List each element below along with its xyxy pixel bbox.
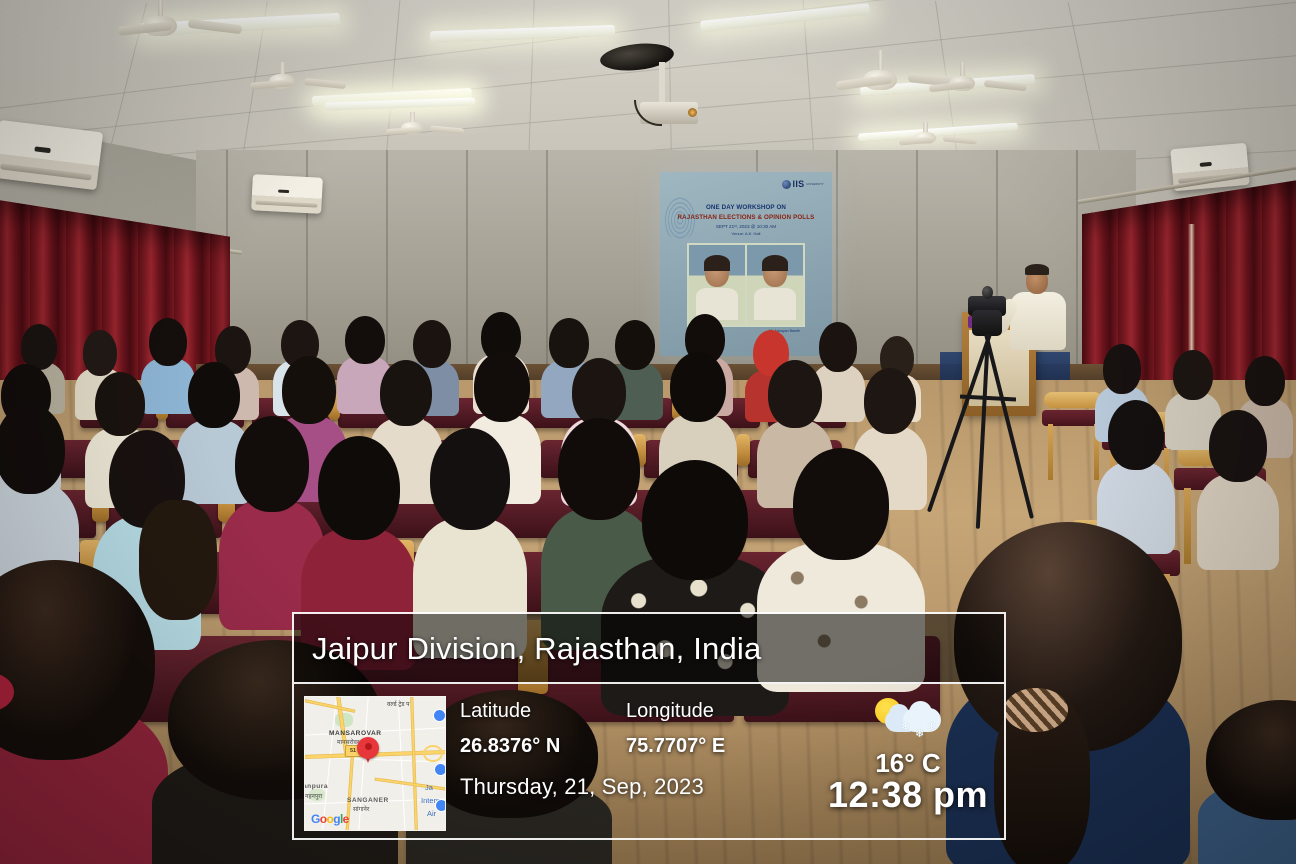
speaker-photo (689, 245, 745, 325)
iis-logo: IIS UNIVERSITY (782, 179, 824, 189)
snowflake-icon: ❄ (927, 722, 936, 733)
google-watermark: Google (311, 812, 349, 826)
map-poi-icon (435, 799, 446, 812)
foreground-person (0, 560, 170, 864)
photo-screenshot: IIS UNIVERSITY ONE DAY WORKSHOP ON RAJAS… (0, 0, 1296, 864)
google-letter-g2: g (333, 812, 340, 826)
map-label-top: वर्ल्ड ट्रेड प (387, 700, 410, 708)
camera-tripod (930, 310, 1055, 525)
map-poi-icon (434, 763, 446, 776)
iis-subtitle: UNIVERSITY (806, 183, 824, 186)
fingerprint-icon (664, 196, 696, 240)
time-value: 12:38 pm (822, 776, 994, 814)
iis-wordmark: IIS (793, 179, 805, 189)
map-label-right-3: Air (427, 809, 436, 818)
location-pin-icon (357, 737, 379, 759)
snowflake-icon: ❄ (901, 722, 910, 733)
gps-map-camera-overlay: Jaipur Division, Rajasthan, India (292, 612, 1006, 840)
location-title-bar: Jaipur Division, Rajasthan, India (294, 614, 1004, 684)
snowflake-icon: ❄ (915, 729, 924, 740)
air-conditioner (0, 120, 103, 190)
map-label-nahanpura: anpura (304, 783, 328, 790)
weather-block: ❄ ❄ ❄ 16° C 12:38 pm (822, 696, 994, 814)
coordinates-block: Latitude 26.8376° N Longitude 75.7707° E… (460, 696, 808, 800)
air-conditioner (251, 174, 323, 214)
ceiling-projector (630, 62, 700, 148)
longitude-label: Longitude (626, 700, 725, 723)
map-label-right-1: Ja (425, 783, 433, 792)
latitude-value: 26.8376° N (460, 735, 626, 758)
google-letter-g: G (311, 812, 320, 826)
sun-behind-cloud-with-snow-icon: ❄ ❄ ❄ (869, 696, 947, 748)
location-title: Jaipur Division, Rajasthan, India (312, 633, 761, 664)
temperature-value: 16° C (822, 750, 994, 776)
latitude-label: Latitude (460, 700, 626, 723)
speaker-photo (747, 245, 803, 325)
foreground-person (1196, 700, 1296, 864)
gps-details: 51 MANSAROVAR मानसरोवर SANGANER सांगानेर… (294, 684, 1004, 838)
google-letter-e: e (343, 812, 349, 826)
microphone-icon (982, 286, 993, 299)
map-thumbnail[interactable]: 51 MANSAROVAR मानसरोवर SANGANER सांगानेर… (304, 696, 446, 831)
map-label-nahanpura-hi: नहनपुरा (305, 792, 322, 800)
map-label-sanganer: SANGANER (347, 797, 389, 804)
map-label-mansarovar: MANSAROVAR (329, 730, 382, 737)
map-label-mansarovar-hi: मानसरोवर (337, 738, 359, 746)
longitude-value: 75.7707° E (626, 735, 725, 758)
datetime-text: Thursday, 21, Sep, 2023 (460, 774, 808, 800)
globe-icon (782, 180, 791, 189)
map-label-sanganer-hi: सांगानेर (353, 805, 369, 813)
map-poi-icon (433, 709, 446, 722)
